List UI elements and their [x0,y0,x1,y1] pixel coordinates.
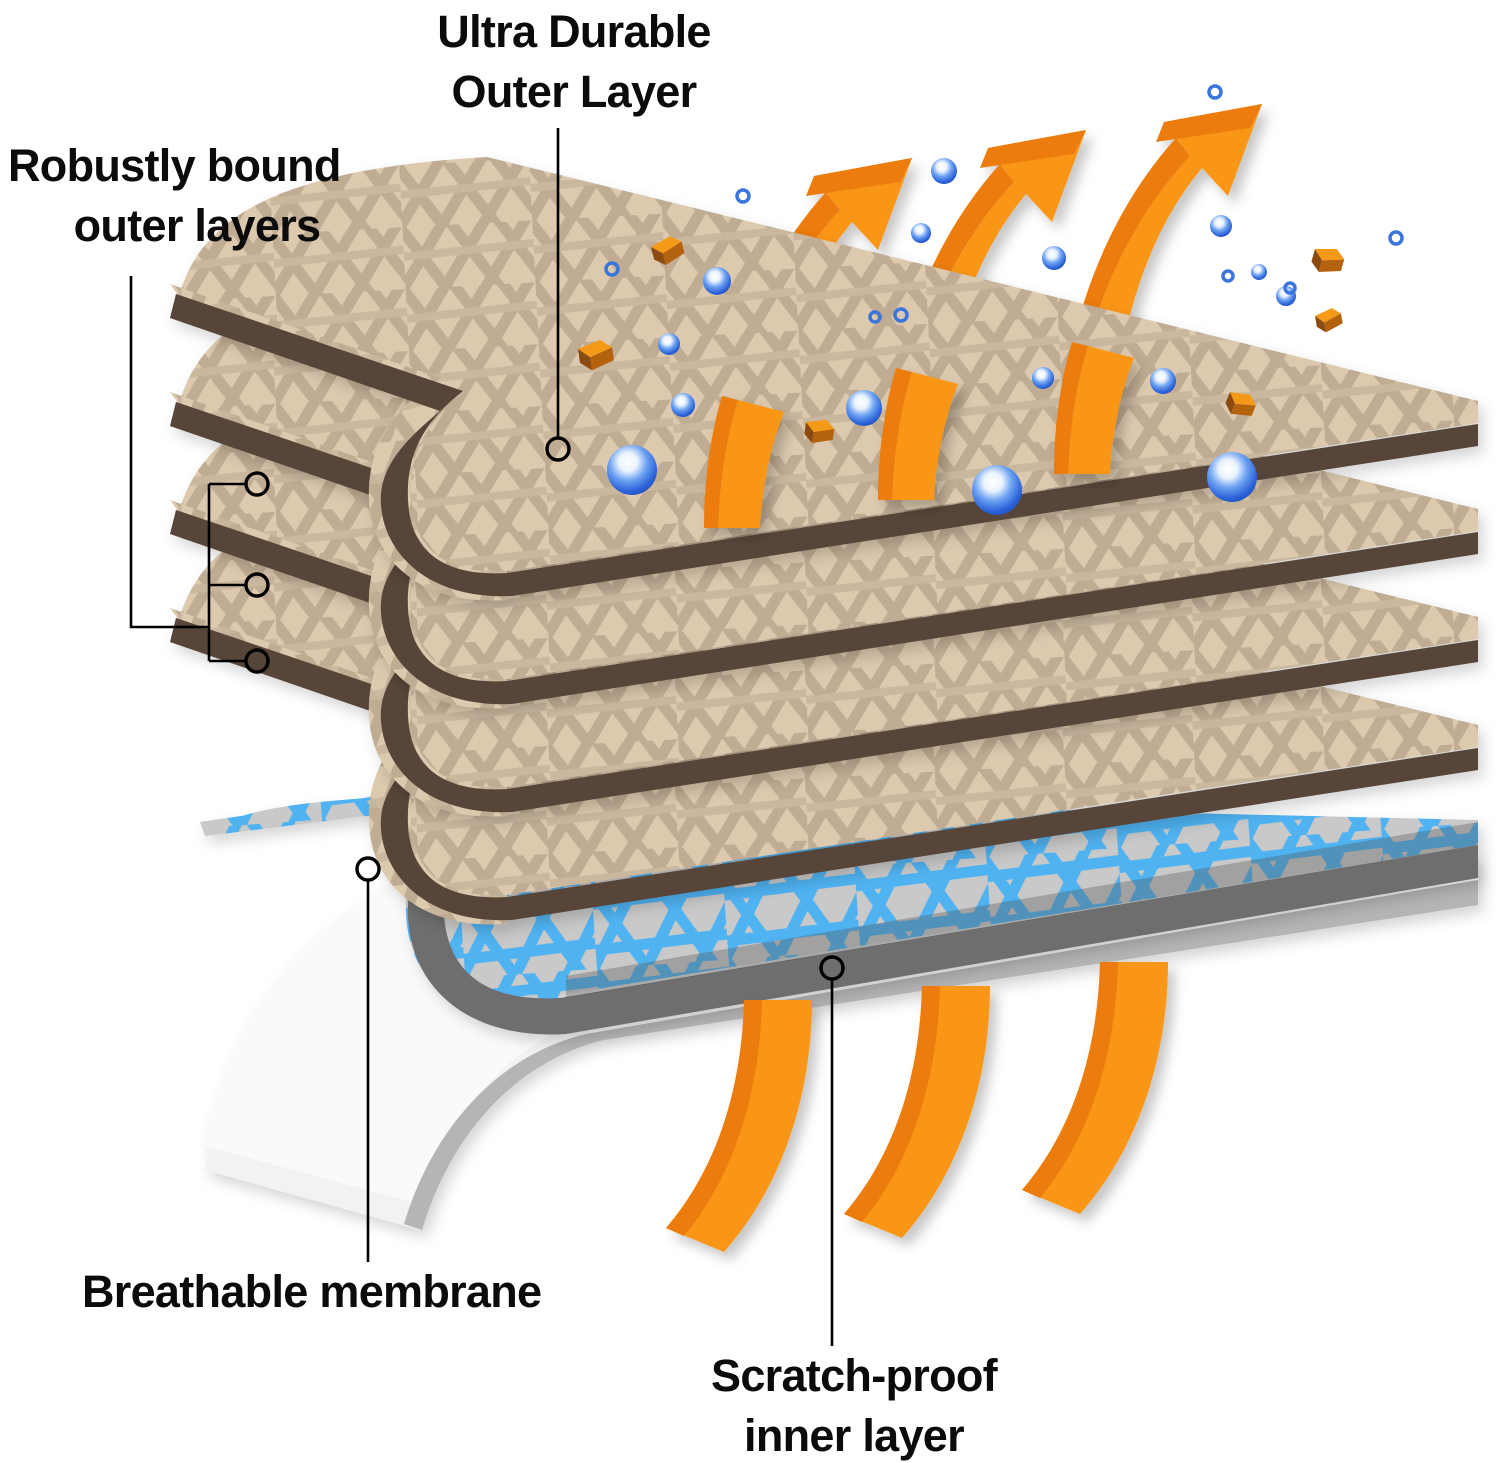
callout-label-bound-layers-line2: outer layers [8,196,428,256]
droplet-sphere [703,267,731,295]
callout-label-bound-layers: Robustly bound outer layers [8,136,428,257]
inward-arrow-2 [844,986,990,1238]
inward-arrow-3 [1022,962,1168,1214]
callout-marker-membrane [357,858,379,880]
droplet-sphere [1207,452,1257,502]
dirt-cube [1314,307,1344,334]
callout-label-outer-layer-line2: Outer Layer [396,62,752,122]
droplet-sphere [1210,215,1232,237]
droplet-sphere [671,393,695,417]
callout-label-membrane: Breathable membrane [82,1262,541,1322]
droplet-outline [737,190,749,202]
droplet-sphere [1032,367,1054,389]
droplet-sphere [931,158,957,184]
dirt-cube [1309,243,1346,277]
callout-label-inner-layer-line2: inner layer [654,1406,1054,1463]
callout-label-outer-layer-line1: Ultra Durable [396,2,752,62]
callout-label-bound-layers-line1: Robustly bound [8,136,428,196]
droplet-outline [1223,271,1233,281]
callout-label-membrane-line1: Breathable membrane [82,1262,541,1322]
droplet-sphere [1150,368,1176,394]
diagram-canvas: Ultra Durable Outer Layer Robustly bound… [0,0,1499,1463]
droplet-outline [1209,86,1221,98]
droplet-sphere [658,333,680,355]
inward-arrow-1 [666,1000,812,1252]
droplet-sphere [1042,246,1066,270]
callout-label-outer-layer: Ultra Durable Outer Layer [396,2,752,123]
callout-label-inner-layer: Scratch-proof inner layer [654,1346,1054,1463]
droplet-sphere [1251,264,1267,280]
droplet-sphere [972,465,1022,515]
droplet-sphere [846,390,882,426]
droplet-sphere [911,223,931,243]
callout-label-inner-layer-line1: Scratch-proof [654,1346,1054,1406]
droplet-outline [1390,232,1402,244]
leader-inner-layer [821,957,843,1346]
droplet-sphere [607,445,657,495]
